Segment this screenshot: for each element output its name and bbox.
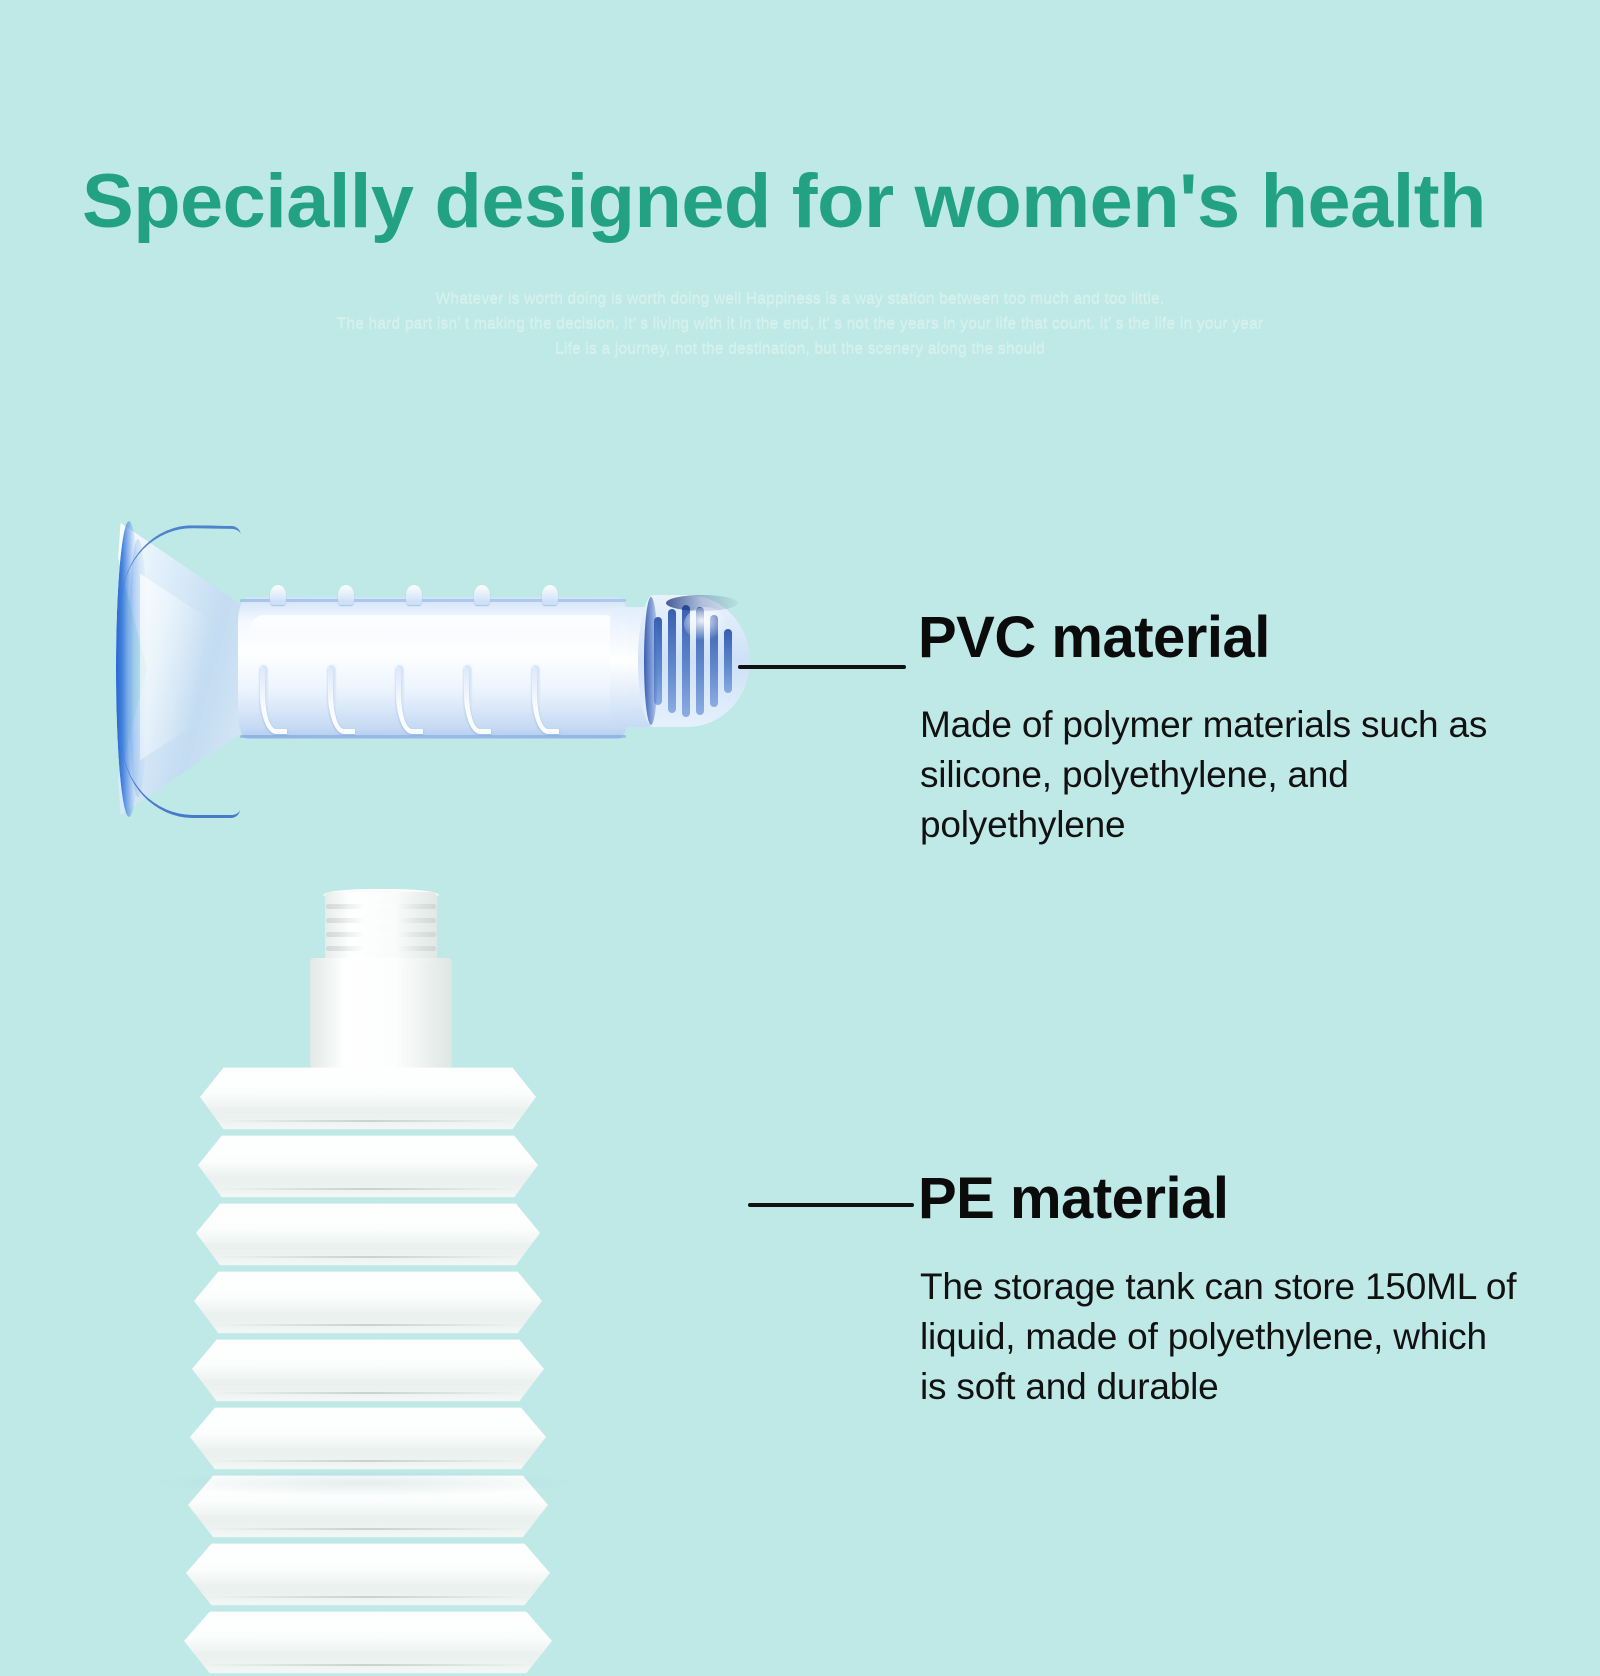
tank-pleat-crease-1 — [216, 1120, 520, 1122]
quote-line-1: Whatever is worth doing is worth doing w… — [0, 286, 1600, 311]
pvc-connector-rule — [738, 665, 906, 669]
pe-connector-rule — [748, 1203, 914, 1207]
tank-pleat-crease-7 — [204, 1528, 532, 1530]
tank-thread-ring-1 — [326, 904, 436, 909]
nozzle-tip-slot-6 — [724, 629, 732, 693]
tank-pleat-crease-4 — [210, 1324, 526, 1326]
page-title: Specially designed for women's health — [82, 158, 1486, 246]
nozzle-shaft-top-edge — [240, 599, 626, 602]
nozzle-tip-highlight — [684, 607, 728, 641]
pe-description: The storage tank can store 150ML of liqu… — [920, 1262, 1520, 1412]
nozzle-shaft-bottom-edge — [240, 735, 626, 738]
tank-contact-shadow — [150, 1470, 580, 1496]
nozzle-base-bottom-edge — [122, 731, 240, 818]
nozzle-shaft-highlight — [250, 615, 618, 645]
tank-thread-ring-3 — [326, 932, 436, 937]
pvc-applicator-nozzle-image — [110, 515, 650, 825]
tank-pleat-crease-6 — [206, 1460, 530, 1462]
pvc-heading: PVC material — [918, 607, 1270, 669]
pe-heading: PE material — [918, 1168, 1228, 1230]
infographic-canvas: Specially designed for women's health Wh… — [0, 0, 1600, 1600]
nozzle-fin-top-2 — [338, 585, 354, 605]
nozzle-tip-rim — [644, 597, 658, 725]
nozzle-fin-top-4 — [474, 585, 490, 605]
quote-line-3: Life is a journey, not the destination, … — [0, 336, 1600, 361]
quote-line-2: The hard part isn’ t making the decision… — [0, 311, 1600, 336]
tank-pleat-crease-8 — [202, 1596, 534, 1598]
pvc-description: Made of polymer materials such as silico… — [920, 700, 1520, 850]
nozzle-fin-top-3 — [406, 585, 422, 605]
tank-thread-ring-4 — [326, 946, 436, 951]
tank-pleat-crease-3 — [212, 1256, 524, 1258]
tank-pleat-crease-2 — [214, 1188, 522, 1190]
nozzle-fin-top-1 — [270, 585, 286, 605]
nozzle-fin-top-5 — [542, 585, 558, 605]
tank-pleat-crease-9 — [200, 1664, 536, 1666]
tank-threaded-neck — [325, 892, 437, 962]
pe-bellows-storage-tank-image — [150, 880, 590, 1500]
tank-thread-ring-2 — [326, 918, 436, 923]
tank-pleat-crease-5 — [208, 1392, 528, 1394]
nozzle-tip-slot-2 — [668, 609, 676, 713]
tank-shoulder-collar — [310, 958, 452, 1070]
decorative-quote-block: Whatever is worth doing is worth doing w… — [0, 286, 1600, 361]
